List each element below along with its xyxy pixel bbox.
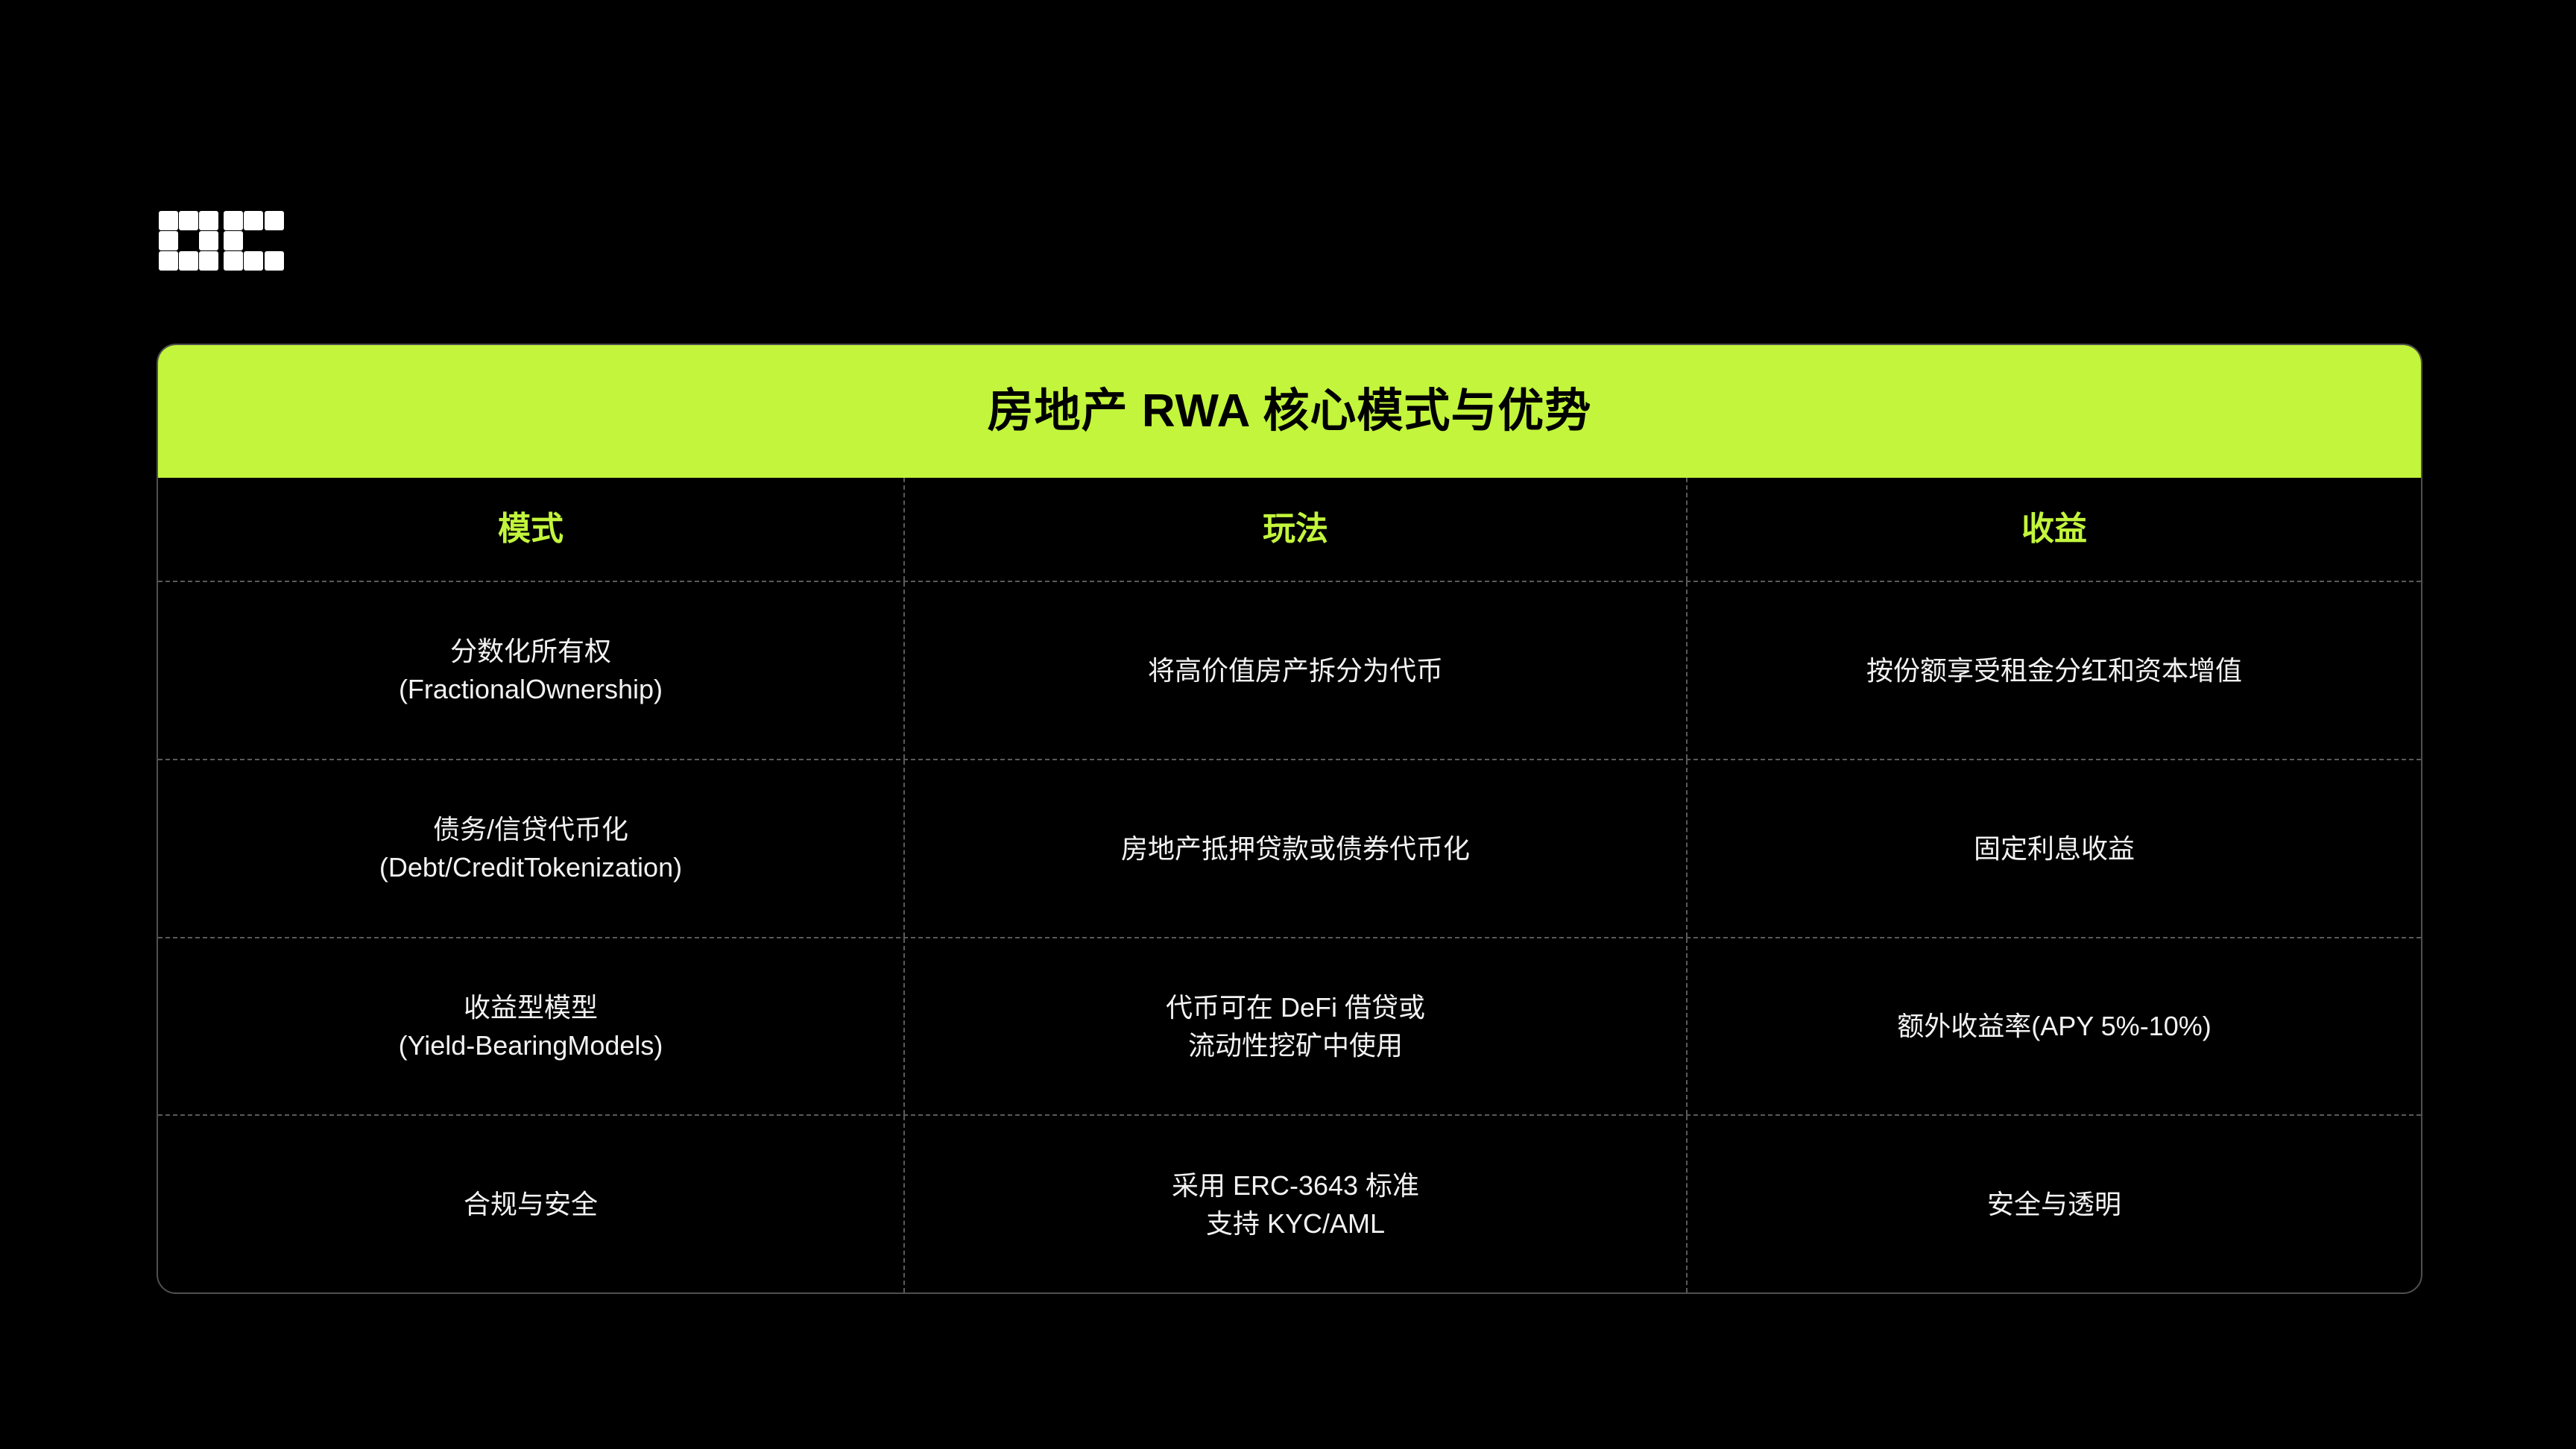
okx-logo (159, 211, 284, 274)
card-header-band: 房地产 RWA 核心模式与优势 (158, 345, 2421, 478)
cell-play: 房地产抵押贷款或债券代币化 (903, 760, 1688, 937)
cell-mode: 合规与安全 (158, 1116, 903, 1292)
cell-line: (Debt/CreditTokenization) (379, 848, 682, 886)
cell-line: (Yield-BearingModels) (399, 1026, 663, 1064)
column-header-play: 玩法 (903, 478, 1688, 581)
cell-line: 按份额享受租金分红和资本增值 (1866, 651, 2242, 689)
cell-line: 安全与透明 (1987, 1185, 2121, 1223)
cell-yield: 按份额享受租金分红和资本增值 (1688, 582, 2421, 759)
cell-line: 合规与安全 (464, 1185, 598, 1223)
table-row: 收益型模型 (Yield-BearingModels) 代币可在 DeFi 借贷… (158, 937, 2421, 1115)
slide-root: 房地产 RWA 核心模式与优势 模式 玩法 收益 分数化所有权 (Fractio… (0, 0, 2576, 1449)
table-row: 合规与安全 采用 ERC-3643 标准 支持 KYC/AML 安全与透明 (158, 1114, 2421, 1292)
cell-line: 房地产抵押贷款或债券代币化 (1121, 830, 1470, 868)
cell-line: 固定利息收益 (1974, 830, 2135, 868)
cell-line: 债务/信贷代币化 (379, 810, 682, 848)
cell-yield: 安全与透明 (1688, 1116, 2421, 1292)
cell-line: 将高价值房产拆分为代币 (1148, 651, 1443, 689)
cell-line: 额外收益率(APY 5%-10%) (1897, 1007, 2211, 1045)
cell-line: 采用 ERC-3643 标准 (1172, 1167, 1419, 1205)
column-header-mode: 模式 (158, 478, 903, 581)
cell-line: 支持 KYC/AML (1172, 1205, 1419, 1243)
cell-play: 代币可在 DeFi 借贷或 流动性挖矿中使用 (903, 938, 1688, 1115)
cell-yield: 额外收益率(APY 5%-10%) (1688, 938, 2421, 1115)
cell-mode: 收益型模型 (Yield-BearingModels) (158, 938, 903, 1115)
table-row: 债务/信贷代币化 (Debt/CreditTokenization) 房地产抵押… (158, 759, 2421, 937)
column-header-yield: 收益 (1688, 478, 2421, 581)
cell-yield: 固定利息收益 (1688, 760, 2421, 937)
cell-play: 采用 ERC-3643 标准 支持 KYC/AML (903, 1116, 1688, 1292)
cell-line: 分数化所有权 (399, 632, 663, 670)
cell-mode: 债务/信贷代币化 (Debt/CreditTokenization) (158, 760, 903, 937)
cell-line: 流动性挖矿中使用 (1166, 1026, 1425, 1064)
comparison-table: 模式 玩法 收益 分数化所有权 (FractionalOwnership) 将高… (158, 478, 2421, 1292)
cell-play: 将高价值房产拆分为代币 (903, 582, 1688, 759)
rwa-table-card: 房地产 RWA 核心模式与优势 模式 玩法 收益 分数化所有权 (Fractio… (157, 344, 2422, 1294)
page-title: 房地产 RWA 核心模式与优势 (988, 388, 1592, 435)
cell-mode: 分数化所有权 (FractionalOwnership) (158, 582, 903, 759)
table-row: 分数化所有权 (FractionalOwnership) 将高价值房产拆分为代币… (158, 581, 2421, 759)
table-header-row: 模式 玩法 收益 (158, 478, 2421, 581)
cell-line: (FractionalOwnership) (399, 670, 663, 708)
cell-line: 代币可在 DeFi 借贷或 (1166, 988, 1425, 1026)
cell-line: 收益型模型 (399, 988, 663, 1026)
